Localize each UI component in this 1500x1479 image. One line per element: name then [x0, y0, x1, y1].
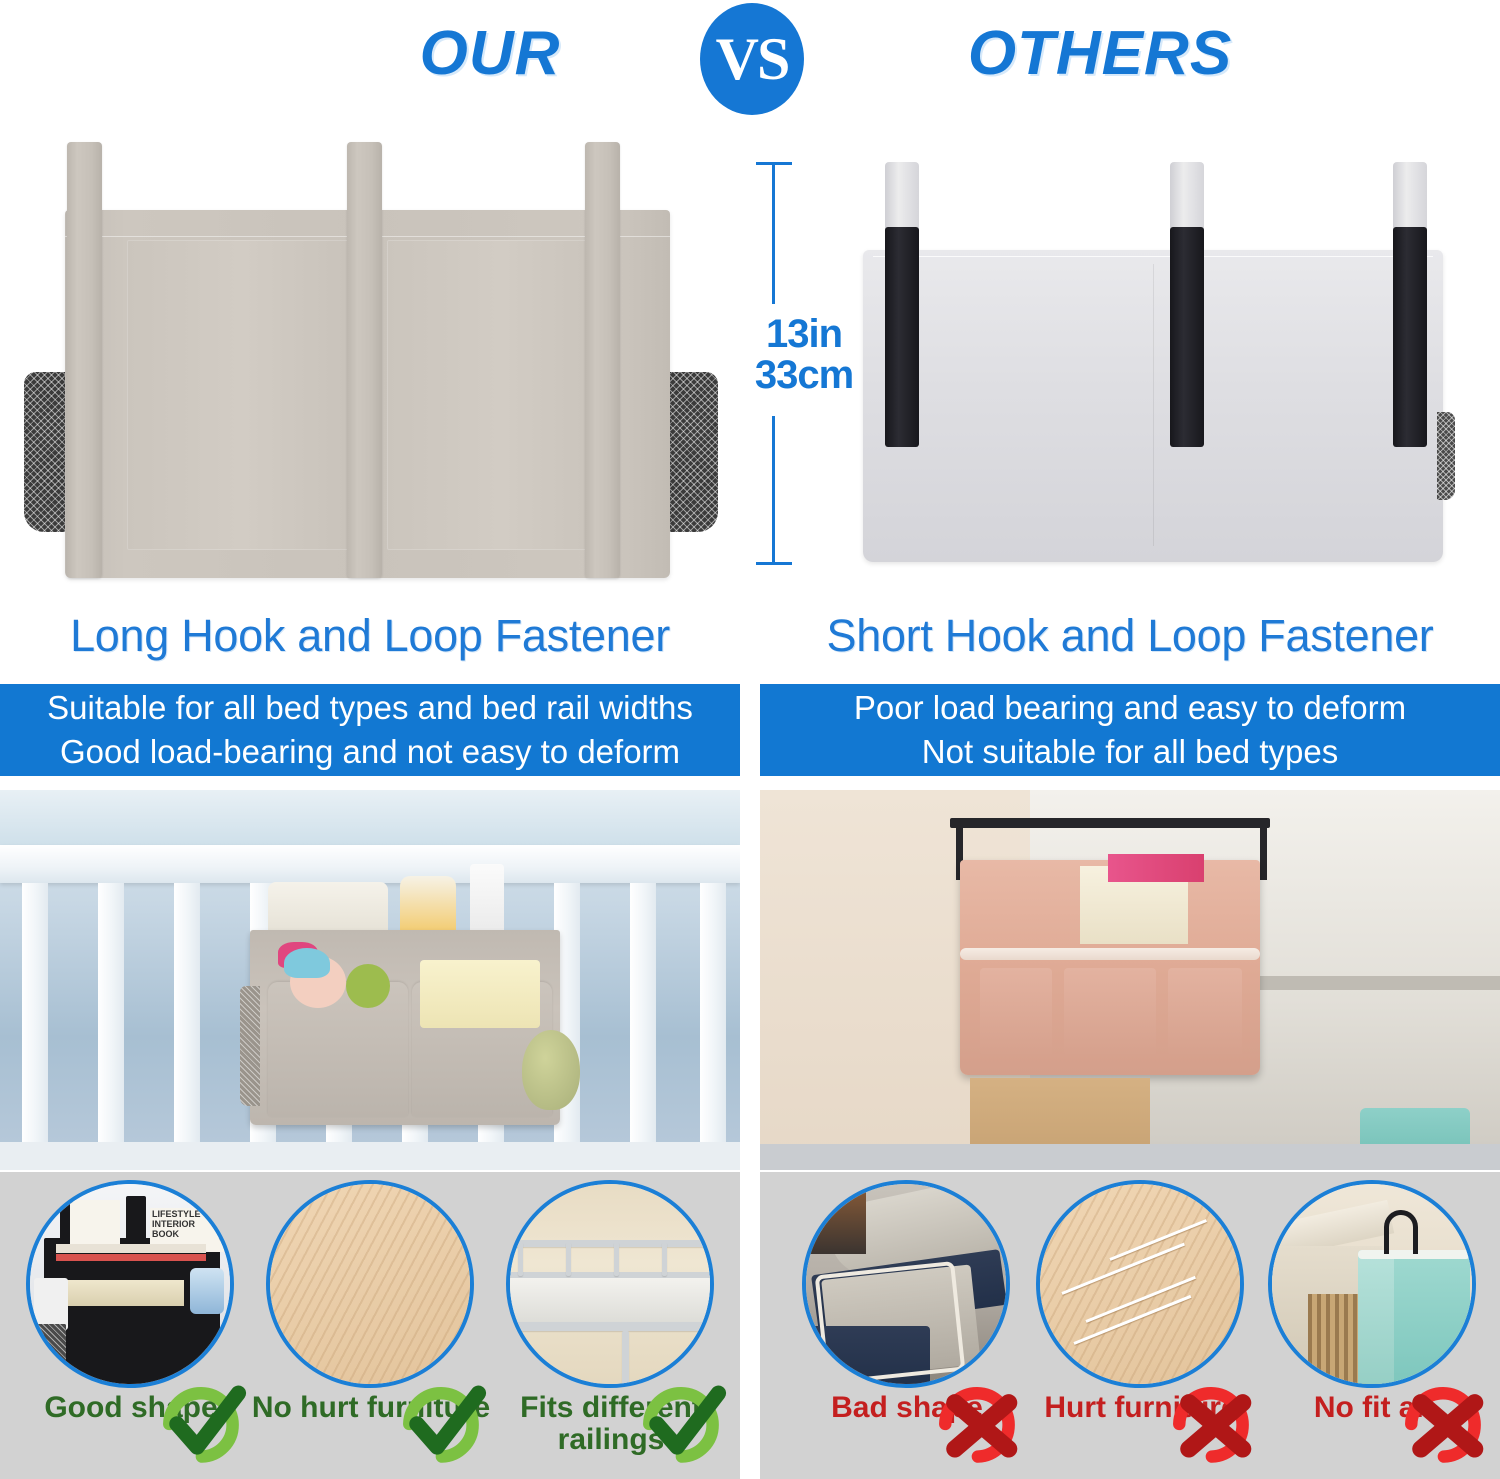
our-organizer-in-use — [250, 930, 560, 1125]
file-stack — [56, 1244, 206, 1253]
competitor-bag-in-use — [960, 860, 1260, 1075]
banner-row: Suitable for all bed types and bed rail … — [0, 684, 1500, 784]
our-heading: OUR — [320, 18, 660, 89]
others-drawback-banner: Poor load bearing and easy to deform Not… — [760, 684, 1500, 776]
dimension-line-bottom — [772, 416, 775, 564]
file-stack — [64, 1280, 184, 1306]
badge-label: Bad shape — [782, 1392, 1032, 1424]
smooth-wood-art — [270, 1184, 470, 1384]
black-organizer-art: LIFESTYLE INTERIOR BOOK — [30, 1184, 230, 1384]
bottle-item — [190, 1268, 224, 1314]
rail-post — [662, 1242, 667, 1276]
competitor-mesh-pocket — [1437, 412, 1455, 500]
scratched-wood-art — [1040, 1184, 1240, 1384]
badge-good-shape: LIFESTYLE INTERIOR BOOK Good shape — [14, 1180, 246, 1479]
header: OUR VS OTHERS — [0, 0, 1500, 128]
crib-slat — [700, 883, 726, 1168]
bag-rim — [960, 948, 1260, 960]
side-mesh — [32, 1324, 66, 1382]
floor-strip — [760, 1144, 1500, 1170]
crib-slat — [630, 883, 656, 1168]
organizer-panel — [387, 240, 617, 550]
feature-badge-strip: LIFESTYLE INTERIOR BOOK Good shape — [0, 1172, 1500, 1479]
green-toy-ball — [346, 964, 390, 1008]
badge-label: No fit all — [1248, 1392, 1498, 1424]
badge-photo — [506, 1180, 714, 1388]
metal-hanging-frame — [950, 818, 1270, 828]
deformed-bag-art — [806, 1184, 1006, 1384]
scene-photo-row — [0, 790, 1500, 1172]
white-papers — [70, 1200, 120, 1246]
bag-front-pocket — [1064, 968, 1156, 1056]
our-caption: Long Hook and Loop Fastener — [0, 600, 740, 672]
badge-photo — [1036, 1180, 1244, 1388]
bed-leg — [622, 1331, 629, 1388]
file-stack — [56, 1254, 206, 1261]
diaper-pack — [420, 960, 540, 1028]
lotion-pump — [470, 864, 504, 940]
our-benefit-banner: Suitable for all bed types and bed rail … — [0, 684, 740, 776]
competitor-organizer-body — [863, 250, 1443, 562]
teal-bag-art — [1272, 1184, 1472, 1384]
badge-photo: LIFESTYLE INTERIOR BOOK — [26, 1180, 234, 1388]
short-fastener-strap — [885, 227, 919, 447]
our-benefit-line-1: Suitable for all bed types and bed rail … — [47, 686, 693, 730]
floor-strip — [0, 1142, 740, 1170]
dimension-cap-bottom — [756, 562, 792, 565]
black-hook-icon — [1384, 1210, 1418, 1254]
organizer-front-pocket — [268, 982, 408, 1117]
comparison-infographic: OUR VS OTHERS 13in 33cm — [0, 0, 1500, 1479]
others-badge-group: Bad shape Hurt furniture — [760, 1172, 1500, 1479]
badge-label: Hurt furniture — [1016, 1392, 1266, 1424]
short-fastener-strap — [1170, 227, 1204, 447]
badge-no-fit-all: No fit all — [1256, 1180, 1488, 1479]
plush-toy-hair — [284, 948, 330, 978]
rail-post — [566, 1242, 571, 1276]
badge-label: Good shape — [6, 1392, 256, 1424]
mattress — [510, 1278, 714, 1322]
front-pocket — [82, 1312, 134, 1364]
badge-no-hurt-furniture: No hurt furniture — [254, 1180, 486, 1479]
rail-post — [518, 1242, 523, 1276]
teal-bag-side — [1358, 1250, 1394, 1388]
vs-badge: VS — [700, 3, 804, 115]
side-item — [34, 1278, 68, 1330]
body-seam — [1153, 264, 1154, 546]
short-fastener-strap — [1393, 227, 1427, 447]
mesh-pocket-right — [663, 372, 718, 532]
badge-label: Fits different railings — [486, 1392, 736, 1455]
vs-badge-label: VS — [716, 29, 789, 89]
background-shadow — [806, 1184, 866, 1254]
others-heading: OTHERS — [860, 18, 1340, 89]
others-drawback-line-1: Poor load bearing and easy to deform — [854, 686, 1406, 730]
our-benefit-line-2: Good load-bearing and not easy to deform — [60, 730, 680, 774]
organizer-panel — [127, 240, 357, 550]
our-scene-photo — [0, 790, 740, 1170]
long-fastener-strap — [67, 142, 102, 578]
badge-label: No hurt furniture — [246, 1392, 496, 1424]
badge-bad-shape: Bad shape — [790, 1180, 1022, 1479]
crib-slat — [174, 883, 200, 1168]
crib-rail — [0, 845, 740, 883]
dimension-line-top — [772, 164, 775, 304]
organizer-handle — [126, 1196, 146, 1246]
others-scene-photo — [760, 790, 1500, 1170]
long-fastener-strap — [585, 142, 620, 578]
frame-leg — [1260, 822, 1267, 880]
badge-hurt-furniture: Hurt furniture — [1024, 1180, 1256, 1479]
our-badge-group: LIFESTYLE INTERIOR BOOK Good shape — [0, 1172, 740, 1479]
bed-railing-art — [510, 1184, 710, 1384]
rail-post — [614, 1242, 619, 1276]
badge-photo — [1268, 1180, 1476, 1388]
caption-row: Long Hook and Loop Fastener Short Hook a… — [0, 596, 1500, 680]
rail-bar — [510, 1240, 714, 1247]
plush-dinosaur — [522, 1030, 580, 1110]
others-caption: Short Hook and Loop Fastener — [760, 600, 1500, 672]
crib-slat — [98, 883, 124, 1168]
badge-photo — [266, 1180, 474, 1388]
bed-frame-bar — [510, 1322, 714, 1331]
others-drawback-line-2: Not suitable for all bed types — [922, 730, 1338, 774]
bag-front-pocket — [980, 968, 1052, 1056]
side-mesh-pocket — [240, 986, 260, 1106]
bag-front-pocket — [1168, 968, 1242, 1056]
badge-fits-railings: Fits different railings — [494, 1180, 726, 1479]
our-product-image — [20, 142, 720, 592]
badge-photo — [802, 1180, 1010, 1388]
long-fastener-strap — [347, 142, 382, 578]
others-product-image — [845, 142, 1495, 592]
product-photo-row: 13in 33cm — [0, 128, 1500, 596]
crib-slat — [22, 883, 48, 1168]
bag-piping — [815, 1261, 966, 1385]
magazine-in-bag — [1108, 854, 1204, 882]
